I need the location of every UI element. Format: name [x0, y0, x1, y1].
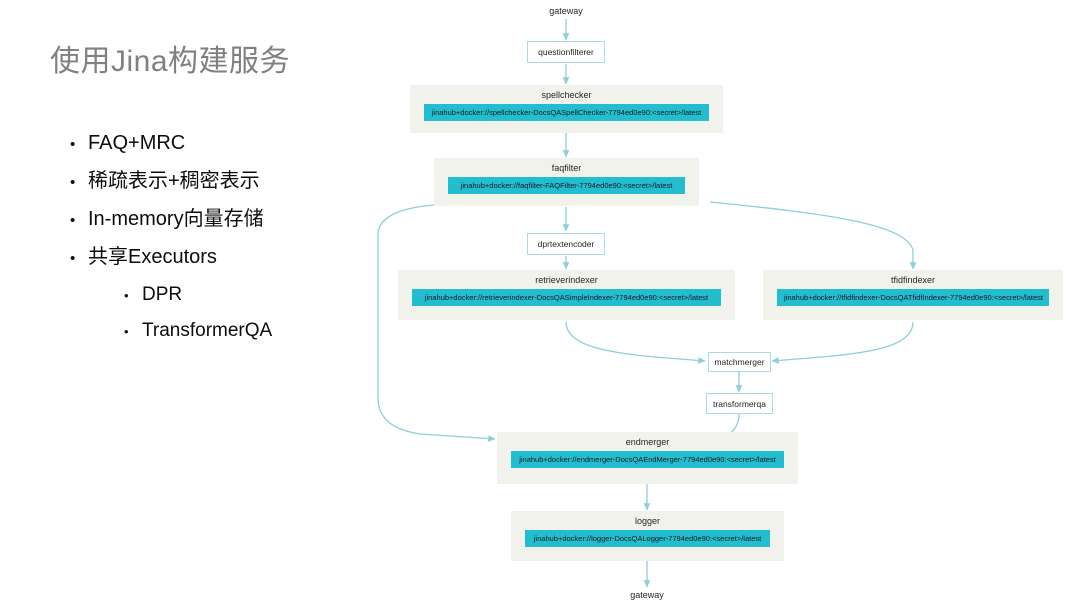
flow-diagram: gateway questionfilterer spellchecker ji…	[0, 0, 1080, 608]
node-retrieverindexer[interactable]: retrieverindexer jinahub+docker://retrie…	[398, 270, 735, 320]
node-tfidfindexer[interactable]: tfidfindexer jinahub+docker://tfidfindex…	[763, 270, 1063, 320]
node-label: dprtextencoder	[538, 239, 595, 249]
node-label: questionfilterer	[538, 47, 594, 57]
node-logger[interactable]: logger jinahub+docker://logger-DocsQALog…	[511, 511, 784, 561]
node-transformerqa[interactable]: transformerqa	[706, 393, 773, 414]
gateway-bottom-label: gateway	[597, 590, 697, 600]
node-dprtextencoder[interactable]: dprtextencoder	[527, 233, 605, 255]
node-label: retrieverindexer	[535, 275, 598, 285]
node-questionfilterer[interactable]: questionfilterer	[527, 41, 605, 63]
edge-tfidfindexer-matchmerger	[772, 322, 913, 361]
node-image-chip: jinahub+docker://tfidfindexer-DocsQATfid…	[777, 289, 1049, 306]
edge-faqfilter-tfidfindexer	[710, 202, 913, 269]
node-label: logger	[635, 516, 660, 526]
slide-canvas: 使用Jina构建服务 • FAQ+MRC • 稀疏表示+稠密表示 • In-me…	[0, 0, 1080, 608]
node-matchmerger[interactable]: matchmerger	[708, 352, 771, 372]
node-label: spellchecker	[541, 90, 591, 100]
node-image-chip: jinahub+docker://logger-DocsQALogger-779…	[525, 530, 770, 547]
edge-faqfilter-endmerger	[378, 205, 495, 439]
node-label: transformerqa	[713, 399, 766, 409]
node-label: tfidfindexer	[891, 275, 935, 285]
node-image-chip: jinahub+docker://retrieverindexer-DocsQA…	[412, 289, 721, 306]
gateway-top-label: gateway	[516, 6, 616, 16]
node-endmerger[interactable]: endmerger jinahub+docker://endmerger-Doc…	[497, 432, 798, 484]
node-faqfilter[interactable]: faqfilter jinahub+docker://faqfilter-FAQ…	[434, 158, 699, 206]
edge-retrieverindexer-matchmerger	[566, 322, 705, 361]
node-label: endmerger	[626, 437, 670, 447]
node-label: faqfilter	[552, 163, 582, 173]
node-spellchecker[interactable]: spellchecker jinahub+docker://spellcheck…	[410, 85, 723, 133]
node-image-chip: jinahub+docker://faqfilter-FAQFilter-779…	[448, 177, 685, 194]
node-label: matchmerger	[714, 357, 764, 367]
node-image-chip: jinahub+docker://endmerger-DocsQAEndMerg…	[511, 451, 784, 468]
node-image-chip: jinahub+docker://spellchecker-DocsQASpel…	[424, 104, 709, 121]
